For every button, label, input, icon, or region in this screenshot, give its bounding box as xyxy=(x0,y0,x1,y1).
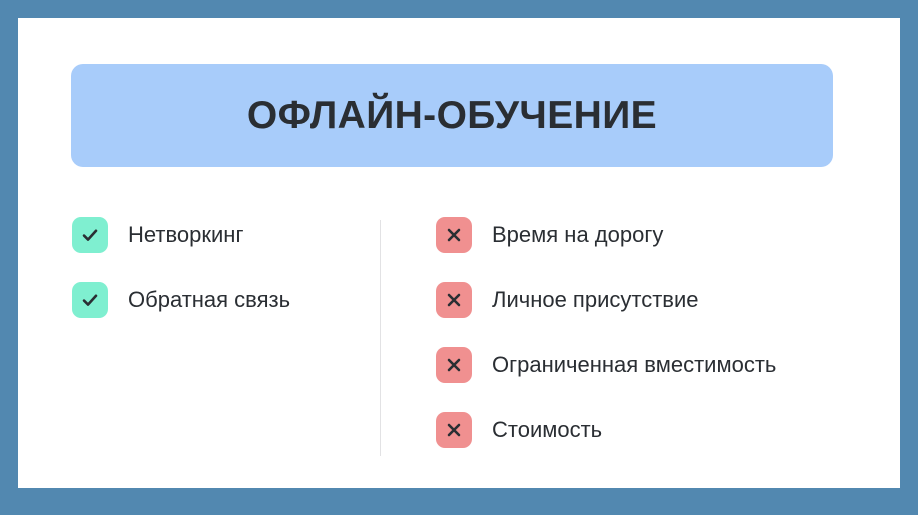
list-item: Нетворкинг xyxy=(72,202,372,267)
list-item-label: Стоимость xyxy=(492,419,602,441)
cross-icon xyxy=(436,412,472,448)
list-item: Личное присутствие xyxy=(436,267,886,332)
comparison-columns: Нетворкинг Обратная связь xyxy=(18,202,900,478)
list-item: Обратная связь xyxy=(72,267,372,332)
list-item-label: Время на дорогу xyxy=(492,224,663,246)
column-divider xyxy=(380,220,381,456)
list-item-label: Личное присутствие xyxy=(492,289,698,311)
list-item-label: Ограниченная вместимость xyxy=(492,354,776,376)
list-item-label: Обратная связь xyxy=(128,289,290,311)
list-item: Стоимость xyxy=(436,397,886,462)
content-card: ОФЛАЙН-ОБУЧЕНИЕ Нетворкинг xyxy=(18,18,900,488)
cross-icon xyxy=(436,347,472,383)
check-icon xyxy=(72,217,108,253)
cross-icon xyxy=(436,282,472,318)
title-banner: ОФЛАЙН-ОБУЧЕНИЕ xyxy=(71,64,833,167)
pros-column: Нетворкинг Обратная связь xyxy=(72,202,372,332)
page-title: ОФЛАЙН-ОБУЧЕНИЕ xyxy=(247,96,657,135)
list-item: Ограниченная вместимость xyxy=(436,332,886,397)
list-item-label: Нетворкинг xyxy=(128,224,243,246)
cons-column: Время на дорогу Личное присутствие xyxy=(436,202,886,462)
outer-frame: ОФЛАЙН-ОБУЧЕНИЕ Нетворкинг xyxy=(0,0,918,515)
check-icon xyxy=(72,282,108,318)
cross-icon xyxy=(436,217,472,253)
list-item: Время на дорогу xyxy=(436,202,886,267)
